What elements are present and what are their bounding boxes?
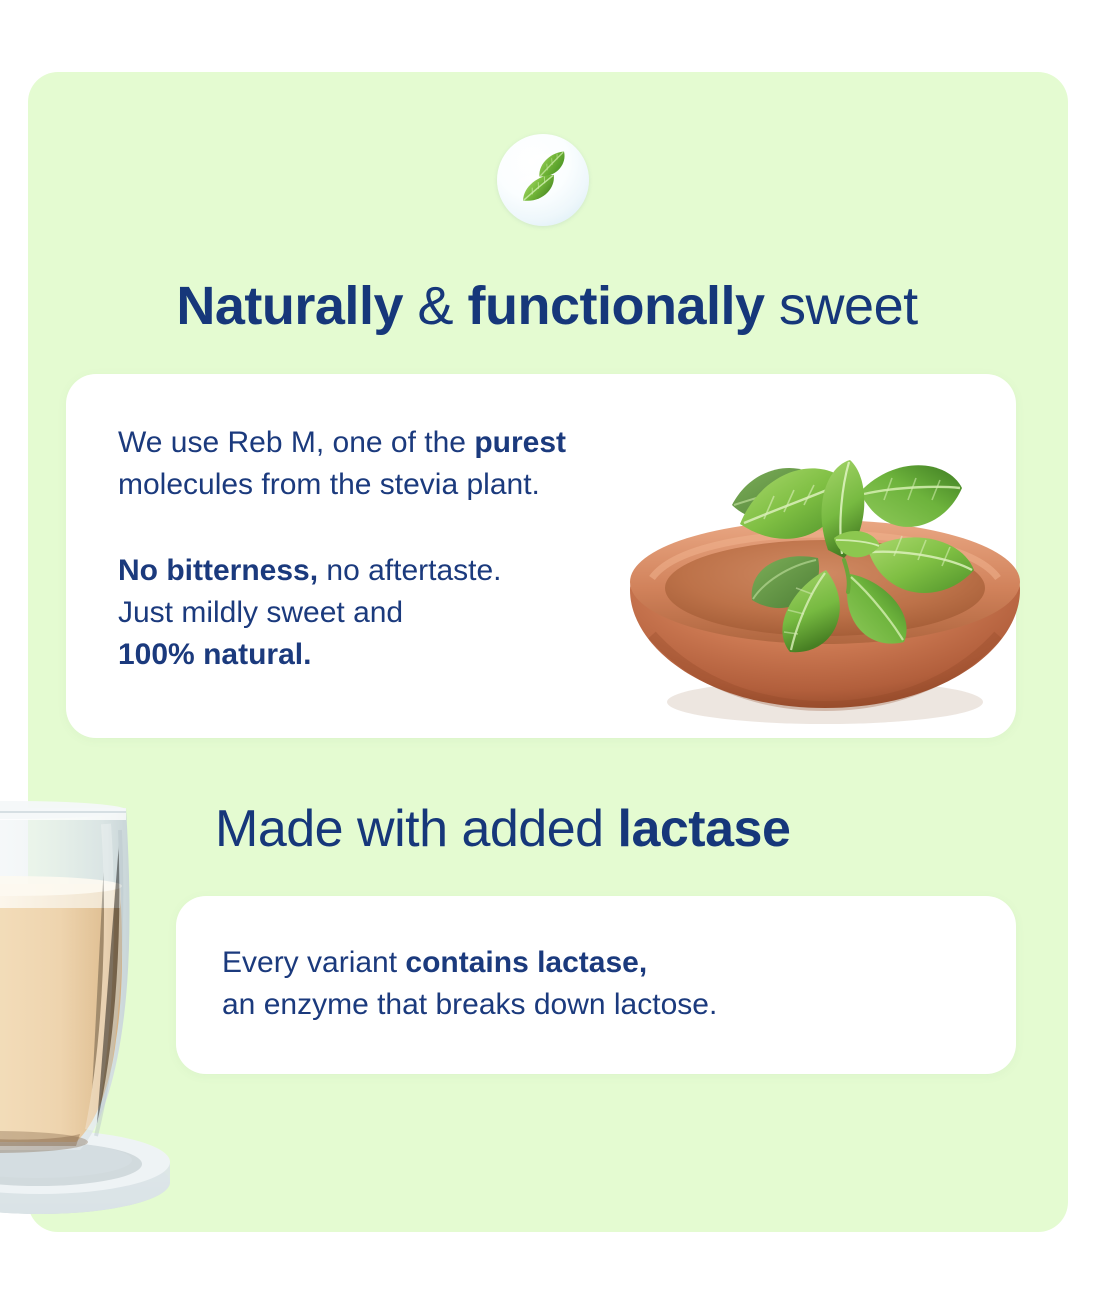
heading-one-word-naturally: Naturally [176,276,403,336]
lactase-paragraph-line-two: an enzyme that breaks down lactose. [222,988,717,1021]
leaf-fluttering-in-wind-icon [497,134,589,226]
section-two-heading: Made with added lactase [215,798,790,860]
lactase-paragraph-bold: contains lactase, [405,946,647,979]
heading-one-ampersand: & [403,276,468,336]
heading-two-lead: Made with added [215,800,618,858]
stevia-card-paragraph-two: No bitterness, no aftertaste. Just mildl… [118,550,502,676]
paragraph-one-lead: We use Reb M, one of the [118,426,474,459]
paragraph-one-line-two: molecules from the stevia plant. [118,468,540,501]
paragraph-two-line-two: Just mildly sweet and [118,596,403,629]
paragraph-two-no-aftertaste: no aftertaste. [318,554,501,587]
heading-one-word-functionally: functionally [468,276,765,336]
paragraph-one-bold-purest: purest [474,426,566,459]
paragraph-two-bold-100-natural: 100% natural. [118,638,311,671]
stevia-card-paragraph-one: We use Reb M, one of the purest molecule… [118,422,566,506]
section-one-heading: Naturally & functionally sweet [0,274,1094,338]
lactase-card-paragraph-one: Every variant contains lactase, an enzym… [222,942,717,1026]
stevia-info-card: We use Reb M, one of the purest molecule… [66,374,1016,738]
paragraph-two-bold-no-bitterness: No bitterness, [118,554,318,587]
lactase-paragraph-lead: Every variant [222,946,405,979]
heading-two-word-lactase: lactase [618,800,791,858]
lactase-info-card: Every variant contains lactase, an enzym… [176,896,1016,1074]
heading-one-word-sweet: sweet [765,276,918,336]
